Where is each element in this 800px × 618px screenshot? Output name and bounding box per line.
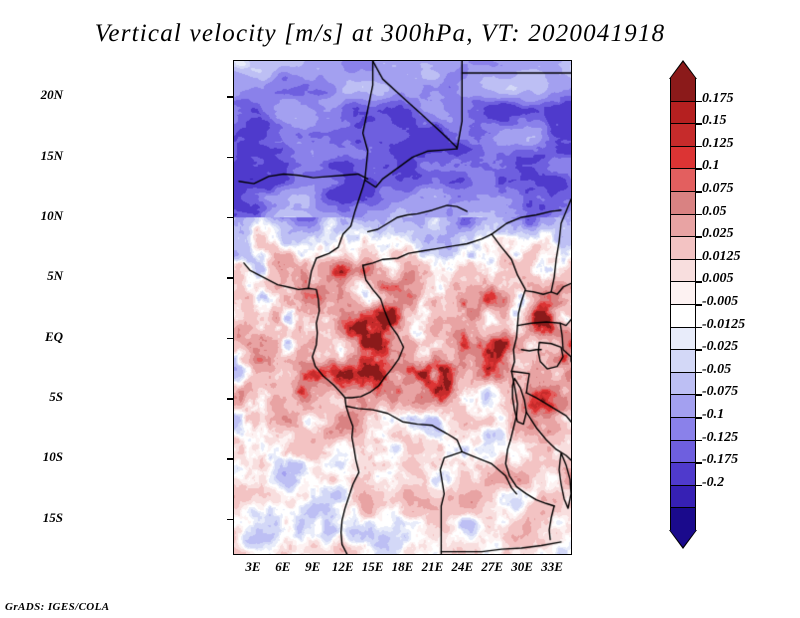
colorbar-cell	[671, 349, 695, 372]
colorbar-tick-mark	[696, 236, 702, 238]
colorbar-tick-label: -0.125	[702, 430, 738, 446]
footer-credit: GrADS: IGES/COLA	[5, 601, 110, 613]
colorbar-tick-mark	[696, 101, 702, 103]
page-title: Vertical velocity [m/s] at 300hPa, VT: 2…	[0, 20, 760, 48]
colorbar-cell	[671, 327, 695, 350]
country-borders-overlay	[234, 61, 571, 554]
colorbar-over-arrow	[670, 62, 696, 79]
colorbar-cell	[671, 78, 695, 101]
latitude-tick-label: 5S	[3, 389, 63, 405]
latitude-tick-label: 20N	[3, 87, 63, 103]
colorbar-tick-mark	[696, 349, 702, 351]
colorbar-tick-label: 0.15	[702, 113, 727, 129]
colorbar-tick-mark	[696, 440, 702, 442]
colorbar-tick-mark	[696, 123, 702, 125]
colorbar-tick-mark	[696, 281, 702, 283]
latitude-tick-mark	[227, 157, 233, 159]
colorbar-cell	[671, 440, 695, 463]
colorbar-tick-label: 0.05	[702, 204, 727, 220]
latitude-tick-mark	[227, 96, 233, 98]
colorbar-cell	[671, 372, 695, 395]
colorbar-cell	[671, 394, 695, 417]
colorbar-cell	[671, 214, 695, 237]
colorbar-tick-mark	[696, 214, 702, 216]
colorbar-tick-mark	[696, 327, 702, 329]
colorbar-tick-label: -0.1	[702, 407, 724, 423]
latitude-tick-label: 15N	[3, 148, 63, 164]
colorbar-tick-mark	[696, 304, 702, 306]
colorbar[interactable]	[670, 78, 696, 530]
colorbar-tick-mark	[696, 372, 702, 374]
colorbar-cell	[671, 146, 695, 169]
colorbar-cell	[671, 417, 695, 440]
latitude-tick-mark	[227, 458, 233, 460]
latitude-tick-mark	[227, 398, 233, 400]
colorbar-tick-label: 0.1	[702, 158, 720, 174]
colorbar-tick-label: -0.075	[702, 384, 738, 400]
latitude-tick-mark	[227, 338, 233, 340]
colorbar-cell	[671, 123, 695, 146]
colorbar-cell	[671, 101, 695, 124]
colorbar-tick-mark	[696, 417, 702, 419]
colorbar-tick-mark	[696, 168, 702, 170]
latitude-tick-label: 10S	[3, 449, 63, 465]
colorbar-tick-label: 0.075	[702, 181, 734, 197]
latitude-tick-mark	[227, 277, 233, 279]
longitude-tick-label: 33E	[532, 559, 572, 575]
colorbar-cell	[671, 281, 695, 304]
colorbar-tick-label: -0.05	[702, 362, 731, 378]
colorbar-tick-label: 0.005	[702, 271, 734, 287]
colorbar-tick-mark	[696, 191, 702, 193]
colorbar-tick-label: -0.025	[702, 339, 738, 355]
colorbar-tick-label: 0.175	[702, 91, 734, 107]
colorbar-tick-label: -0.005	[702, 294, 738, 310]
colorbar-tick-label: -0.0125	[702, 317, 745, 333]
latitude-tick-label: 5N	[3, 268, 63, 284]
colorbar-tick-label: -0.2	[702, 475, 724, 491]
colorbar-cell	[671, 191, 695, 214]
colorbar-cell	[671, 485, 695, 508]
colorbar-tick-mark	[696, 462, 702, 464]
colorbar-cell	[671, 259, 695, 282]
colorbar-tick-mark	[696, 394, 702, 396]
colorbar-tick-label: 0.025	[702, 226, 734, 242]
map-panel[interactable]	[233, 60, 572, 555]
colorbar-tick-label: 0.125	[702, 136, 734, 152]
colorbar-tick-mark	[696, 485, 702, 487]
colorbar-cell	[671, 236, 695, 259]
colorbar-cell	[671, 304, 695, 327]
colorbar-tick-label: 0.0125	[702, 249, 741, 265]
colorbar-tick-mark	[696, 259, 702, 261]
colorbar-tick-mark	[696, 146, 702, 148]
latitude-tick-mark	[227, 217, 233, 219]
colorbar-cell	[671, 462, 695, 485]
latitude-tick-label: EQ	[3, 329, 63, 345]
latitude-tick-mark	[227, 519, 233, 521]
latitude-tick-label: 10N	[3, 208, 63, 224]
colorbar-under-arrow	[670, 530, 696, 547]
colorbar-tick-label: -0.175	[702, 452, 738, 468]
latitude-tick-label: 15S	[3, 510, 63, 526]
colorbar-cell	[671, 507, 695, 530]
colorbar-cell	[671, 168, 695, 191]
